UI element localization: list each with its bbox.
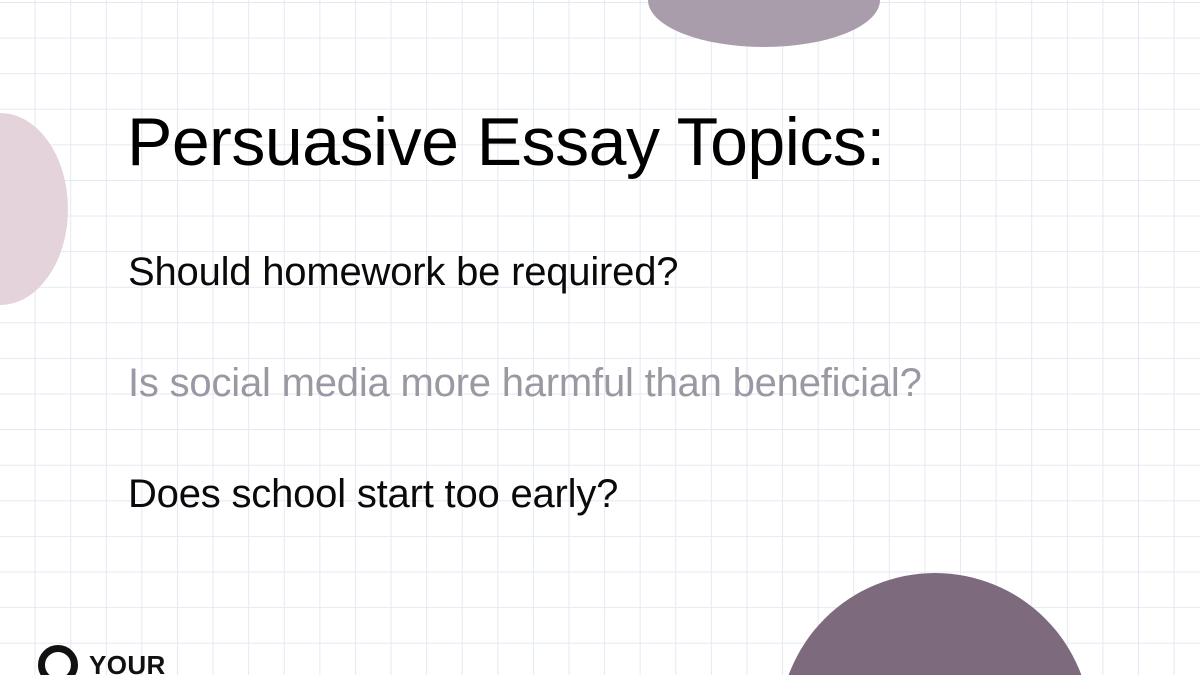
essay-topic-item: Does school start too early? <box>128 474 618 514</box>
brand-logo: YOUR <box>38 645 166 675</box>
essay-topic-item: Should homework be required? <box>128 252 678 292</box>
brand-logo-text: YOUR <box>89 652 166 675</box>
open-book-and-pen-icon <box>779 573 1091 675</box>
decorative-circle-top <box>648 0 880 47</box>
circle-ring-icon <box>38 645 78 675</box>
decorative-circle-bottom-right <box>779 573 1091 675</box>
page-title: Persuasive Essay Topics: <box>127 108 885 176</box>
decorative-circle-left <box>0 113 68 305</box>
slide-canvas: Persuasive Essay Topics: Should homework… <box>0 0 1200 675</box>
essay-topic-item: Is social media more harmful than benefi… <box>128 363 922 403</box>
